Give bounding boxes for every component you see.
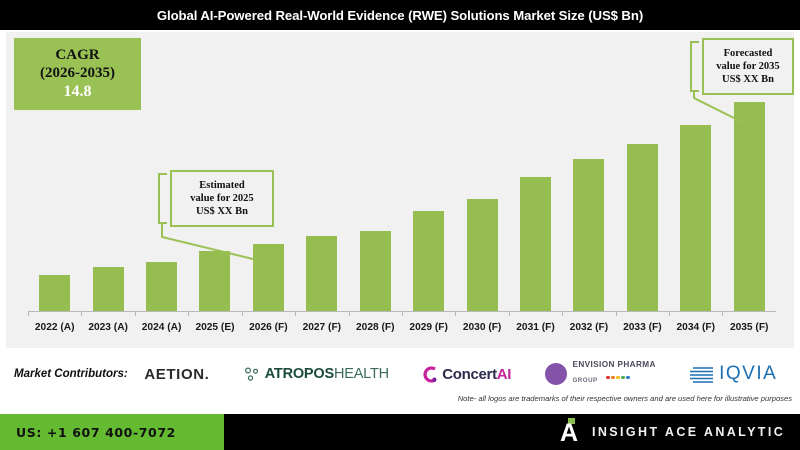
insightace-logo-icon: A bbox=[560, 418, 582, 446]
atropos-bold: ATROPOS bbox=[265, 366, 334, 382]
forecasted-callout-line1: Forecasted bbox=[724, 47, 773, 60]
aetion-logo-text: AETION. bbox=[144, 366, 209, 383]
footer-brand-block: A INSIGHT ACE ANALYTIC bbox=[560, 414, 785, 450]
envision-line2-row: GROUP bbox=[572, 370, 655, 387]
envision-pharma-logo: ENVISION PHARMA GROUP bbox=[544, 361, 655, 386]
atropos-logo-text: ATROPOSHEALTH bbox=[265, 366, 389, 382]
aetion-logo: AETION. bbox=[144, 366, 209, 383]
contributors-label: Market Contributors: bbox=[14, 368, 128, 380]
atropos-mark-icon bbox=[243, 365, 261, 383]
trademark-note: Note- all logos are trademarks of their … bbox=[458, 394, 792, 403]
footer-contact-block: US: +1 607 400-7072 bbox=[0, 414, 224, 450]
concert-bold: Concert bbox=[442, 366, 497, 383]
concertai-logo-text: ConcertAI bbox=[442, 366, 511, 383]
atropos-health-logo: ATROPOSHEALTH bbox=[243, 365, 389, 383]
footer-brand-name: INSIGHT ACE ANALYTIC bbox=[592, 425, 785, 439]
concert-accent: AI bbox=[497, 366, 511, 383]
envision-dots-icon bbox=[606, 376, 630, 380]
footer-bar: US: +1 607 400-7072 A INSIGHT ACE ANALYT… bbox=[0, 414, 800, 450]
iqvia-mark-icon bbox=[689, 364, 715, 384]
iqvia-logo-text: IQVIA bbox=[719, 363, 777, 385]
contributor-logos: AETION. ATROPOSHEALTH ConcertAI bbox=[128, 361, 794, 386]
infographic-page: Global AI-Powered Real-World Evidence (R… bbox=[0, 0, 800, 450]
market-contributors-strip: Market Contributors: AETION. ATROPOSHEAL… bbox=[6, 353, 794, 395]
brandmark-letter: A bbox=[560, 421, 578, 446]
concertai-logo: ConcertAI bbox=[422, 365, 511, 384]
envision-logo-text: ENVISION PHARMA GROUP bbox=[572, 361, 655, 386]
footer-phone[interactable]: US: +1 607 400-7072 bbox=[16, 425, 176, 440]
envision-line2: GROUP bbox=[572, 377, 597, 384]
forecasted-callout-line2: value for 2035 bbox=[716, 60, 779, 73]
forecasted-value-callout: Forecasted value for 2035 US$ XX Bn bbox=[702, 38, 794, 95]
envision-line1: ENVISION PHARMA bbox=[572, 361, 655, 370]
forecasted-callout-line3: US$ XX Bn bbox=[722, 73, 774, 86]
atropos-normal: HEALTH bbox=[334, 366, 389, 382]
concertai-mark-icon bbox=[422, 365, 438, 384]
envision-circle-icon bbox=[544, 362, 568, 386]
iqvia-logo: IQVIA bbox=[689, 363, 777, 385]
